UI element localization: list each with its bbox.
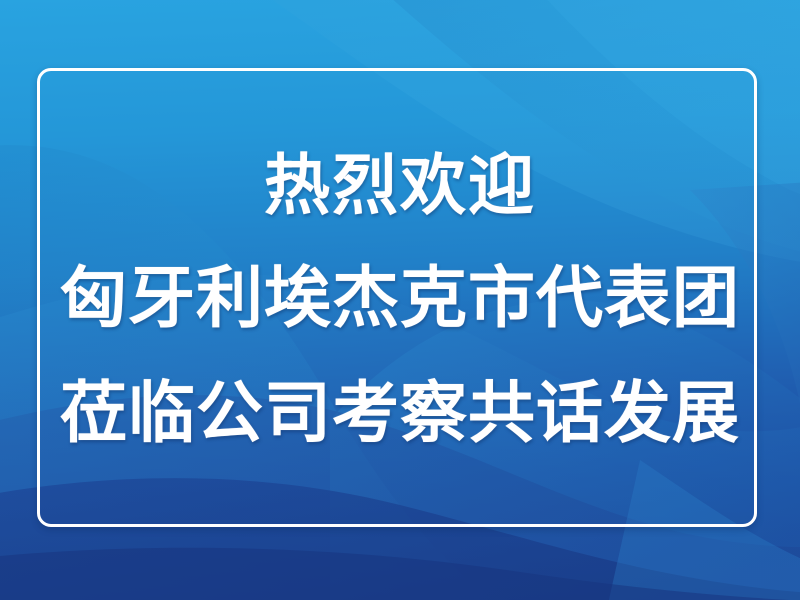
headline-block: 热烈欢迎 匈牙利埃杰克市代表团 莅临公司考察共话发展 <box>0 0 800 600</box>
headline-line-2: 匈牙利埃杰克市代表团 <box>60 265 740 332</box>
welcome-banner: 热烈欢迎 匈牙利埃杰克市代表团 莅临公司考察共话发展 <box>0 0 800 600</box>
headline-line-1: 热烈欢迎 <box>264 153 536 219</box>
headline-line-3: 莅临公司考察共话发展 <box>60 380 740 447</box>
